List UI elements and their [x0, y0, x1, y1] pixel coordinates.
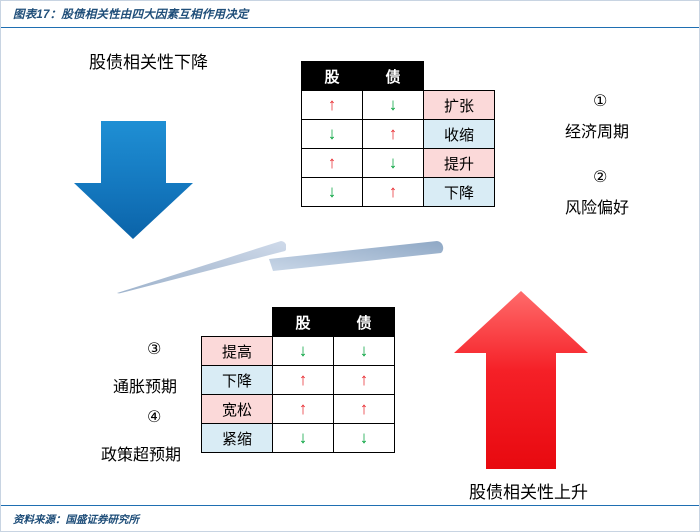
arrow-down-icon: ↓: [328, 124, 337, 143]
arrow-down-icon: ↓: [360, 428, 369, 447]
down-title-label: 股债相关性下降: [89, 48, 208, 73]
factor2-label: 风险偏好: [565, 194, 629, 218]
cell-bond: ↓: [334, 424, 395, 453]
arrow-down-icon: ↓: [389, 95, 398, 114]
arrow-up-icon: ↑: [299, 370, 308, 389]
cell-bond: ↓: [334, 337, 395, 366]
figure-page: 图表17：股债相关性由四大因素互相作用决定 资料来源：国盛证券研究所: [0, 0, 700, 532]
cell-label: 收缩: [424, 120, 495, 149]
factor3-label: 通胀预期: [113, 373, 177, 397]
cell-stock: ↓: [273, 424, 334, 453]
up-title-label: 股债相关性上升: [469, 478, 588, 503]
table-row: ↑ ↓ 扩张: [302, 91, 495, 120]
table-row: ↑ ↓ 提升: [302, 149, 495, 178]
cell-stock: ↑: [302, 149, 363, 178]
table-row: ↓ ↑ 下降: [302, 178, 495, 207]
cell-label: 提高: [202, 337, 273, 366]
arrow-down-icon: ↓: [360, 341, 369, 360]
cell-bond: ↑: [363, 120, 424, 149]
empty-cell: [202, 308, 273, 337]
table-row: 下降 ↑ ↑: [202, 366, 395, 395]
factor2-number: ②: [593, 167, 607, 187]
arrow-up-icon: ↑: [299, 399, 308, 418]
col-header-stock: 股: [273, 308, 334, 337]
arrow-up-icon: ↑: [389, 182, 398, 201]
blue-down-arrow-icon: [71, 121, 196, 241]
figure-header: 图表17：股债相关性由四大因素互相作用决定: [1, 1, 699, 28]
col-header-bond: 债: [363, 62, 424, 91]
cell-label: 下降: [202, 366, 273, 395]
cell-bond: ↑: [363, 178, 424, 207]
figure-footer: 资料来源：国盛证券研究所: [1, 505, 699, 531]
cell-label: 扩张: [424, 91, 495, 120]
cell-bond: ↑: [334, 395, 395, 424]
table-top: 股 债 ↑ ↓ 扩张 ↓ ↑ 收缩 ↑ ↓ 提升 ↓ ↑ 下降: [301, 61, 495, 207]
empty-cell: [424, 62, 495, 91]
factor1-number: ①: [593, 91, 607, 111]
arrow-up-icon: ↑: [360, 399, 369, 418]
col-header-stock: 股: [302, 62, 363, 91]
table-header-row: 股 债: [202, 308, 395, 337]
table-row: 宽松 ↑ ↑: [202, 395, 395, 424]
factor4-number: ④: [147, 407, 161, 427]
cell-bond: ↓: [363, 149, 424, 178]
col-header-bond: 债: [334, 308, 395, 337]
cell-label: 宽松: [202, 395, 273, 424]
cell-label: 紧缩: [202, 424, 273, 453]
table-bottom: 股 债 提高 ↓ ↓ 下降 ↑ ↑ 宽松 ↑ ↑ 紧缩 ↓ ↓: [201, 307, 395, 453]
cell-label: 提升: [424, 149, 495, 178]
cell-stock: ↓: [302, 178, 363, 207]
figure-title: 图表17：股债相关性由四大因素互相作用决定: [13, 6, 249, 22]
cell-stock: ↑: [273, 366, 334, 395]
cell-stock: ↓: [273, 337, 334, 366]
arrow-down-icon: ↓: [299, 341, 308, 360]
cell-stock: ↓: [302, 120, 363, 149]
cell-stock: ↑: [302, 91, 363, 120]
seesaw-bar: [111, 237, 286, 295]
cell-bond: ↓: [363, 91, 424, 120]
red-up-arrow-icon: [451, 291, 591, 471]
table-row: ↓ ↑ 收缩: [302, 120, 495, 149]
table-row: 紧缩 ↓ ↓: [202, 424, 395, 453]
arrow-up-icon: ↑: [389, 124, 398, 143]
table-header-row: 股 债: [302, 62, 495, 91]
arrow-down-icon: ↓: [328, 182, 337, 201]
table-row: 提高 ↓ ↓: [202, 337, 395, 366]
arrow-up-icon: ↑: [360, 370, 369, 389]
arrow-up-icon: ↑: [328, 153, 337, 172]
source-note: 资料来源：国盛证券研究所: [13, 512, 139, 527]
seesaw-bar-2: [269, 237, 449, 295]
arrow-up-icon: ↑: [328, 95, 337, 114]
arrow-down-icon: ↓: [389, 153, 398, 172]
factor1-label: 经济周期: [565, 118, 629, 142]
cell-stock: ↑: [273, 395, 334, 424]
factor3-number: ③: [147, 339, 161, 359]
factor4-label: 政策超预期: [101, 441, 181, 465]
cell-label: 下降: [424, 178, 495, 207]
cell-bond: ↑: [334, 366, 395, 395]
arrow-down-icon: ↓: [299, 428, 308, 447]
